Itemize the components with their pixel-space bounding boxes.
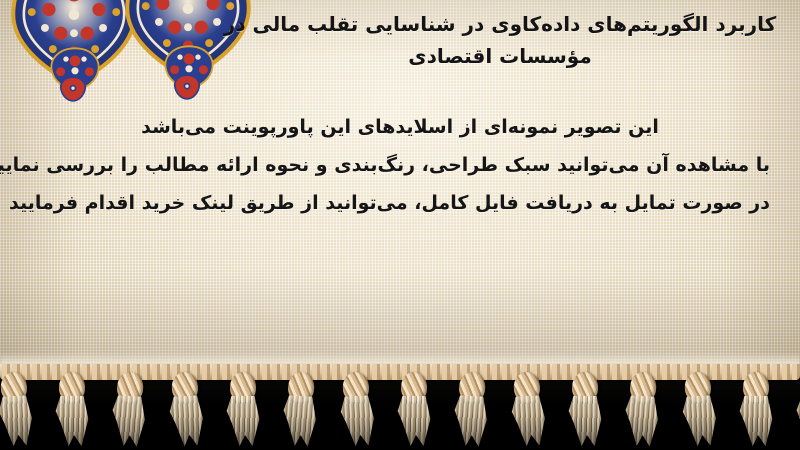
slide-body-text: این تصویر نمونه‌ای از اسلایدهای این پاور… <box>30 108 770 222</box>
tassel <box>564 372 606 446</box>
tassel <box>163 371 209 447</box>
tassel-skirt-shading <box>794 395 800 447</box>
slide-title-line-2: مؤسسات اقتصادی <box>210 40 790 72</box>
tassel-skirt-shading <box>739 396 773 446</box>
tassel <box>0 371 38 447</box>
tassel-fringe-border <box>0 372 800 450</box>
slide-title-line-1: کاربرد الگوریتم‌های داده‌کاوی در شناسایی… <box>210 8 790 40</box>
tassel-skirt-shading <box>510 395 547 447</box>
persian-finial-motif-icon <box>56 76 90 102</box>
slide-body-line-1: این تصویر نمونه‌ای از اسلایدهای این پاور… <box>30 108 770 146</box>
tassel-skirt-shading <box>55 396 89 446</box>
tassel-skirt-shading <box>0 395 34 447</box>
tassel <box>619 371 665 447</box>
tassel-skirt-shading <box>397 396 431 446</box>
tassel-skirt-shading <box>452 395 489 447</box>
slide-body-line-3: در صورت تمایل به دریافت فایل کامل، می‌تو… <box>30 184 770 222</box>
tassel <box>334 371 380 447</box>
tassel <box>222 372 264 446</box>
tassel-skirt-shading <box>623 395 660 447</box>
tassel <box>676 371 722 447</box>
slide-canvas: کاربرد الگوریتم‌های داده‌کاوی در شناسایی… <box>0 0 800 450</box>
tassel-skirt <box>794 395 800 447</box>
tassel-skirt-shading <box>339 395 376 447</box>
tassel <box>277 371 323 447</box>
tassel-skirt-shading <box>281 395 318 447</box>
tassel <box>51 372 93 446</box>
tassel-skirt-shading <box>568 396 602 446</box>
slide-title: کاربرد الگوریتم‌های داده‌کاوی در شناسایی… <box>210 8 790 72</box>
tassel <box>393 372 435 446</box>
persian-finial-motif-icon <box>170 74 204 100</box>
tassel-skirt-shading <box>110 395 147 447</box>
tassel-skirt-shading <box>168 395 205 447</box>
tassel-skirt-shading <box>681 395 718 447</box>
slide-body-line-2: با مشاهده آن می‌توانید سبک طراحی، رنگ‌بن… <box>30 146 770 184</box>
tassel-skirt-shading <box>226 396 260 446</box>
tassel <box>735 372 777 446</box>
tassel <box>790 371 800 447</box>
tassel <box>106 371 152 447</box>
tassel <box>505 371 551 447</box>
tassel <box>448 371 494 447</box>
